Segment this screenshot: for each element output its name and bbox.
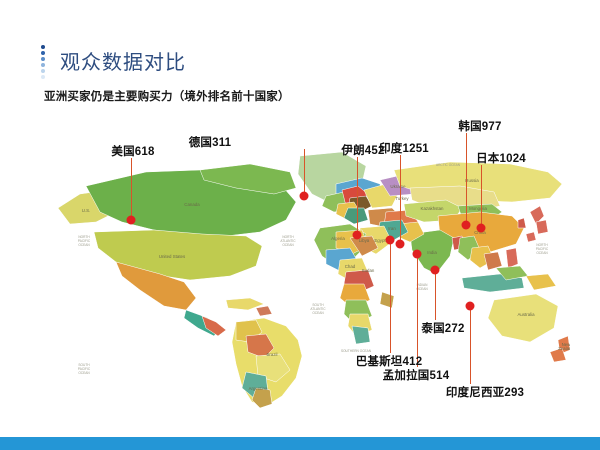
marker-dot-korea [462, 221, 471, 230]
marker-stem-pakistan [390, 240, 391, 353]
page-subtitle: 亚洲买家仍是主要购买力（境外排名前十国家） [44, 88, 290, 104]
svg-text:Mongolia: Mongolia [469, 206, 487, 211]
marker-dot-india [396, 240, 405, 249]
svg-text:United States: United States [159, 254, 186, 259]
slide-canvas: 观众数据对比 亚洲买家仍是主要购买力（境外排名前十国家） [0, 0, 600, 450]
marker-label-pakistan: 巴基斯坦412 [356, 353, 423, 369]
marker-dot-indonesia [466, 302, 475, 311]
svg-text:Chad: Chad [345, 264, 356, 269]
marker-stem-india [400, 155, 401, 244]
svg-text:OCEAN: OCEAN [312, 311, 324, 315]
marker-label-germany: 德国311 [189, 134, 232, 150]
marker-dot-pakistan [386, 236, 395, 245]
svg-text:Iran: Iran [388, 226, 396, 231]
svg-text:Brazil: Brazil [267, 352, 278, 357]
marker-stem-korea [466, 133, 467, 225]
marker-dot-thailand [431, 266, 440, 275]
svg-text:Ukraine: Ukraine [390, 184, 406, 189]
marker-stem-us [131, 158, 132, 220]
marker-stem-japan [481, 165, 482, 228]
marker-stem-germany [304, 149, 305, 196]
marker-dot-germany [300, 192, 309, 201]
marker-dot-iran [353, 231, 362, 240]
svg-text:Russia: Russia [465, 178, 479, 183]
svg-text:Sudan: Sudan [362, 268, 375, 273]
svg-text:Zealand: Zealand [558, 346, 570, 351]
decorative-dot-column [41, 45, 45, 79]
marker-stem-indonesia [470, 306, 471, 384]
marker-dot-japan [477, 224, 486, 233]
marker-label-bangladesh: 孟加拉国514 [383, 367, 450, 383]
svg-text:OCEAN: OCEAN [78, 371, 90, 375]
marker-stem-thailand [435, 270, 436, 320]
svg-text:Australia: Australia [517, 312, 535, 317]
marker-label-us: 美国618 [111, 143, 154, 159]
marker-dot-us [127, 216, 136, 225]
svg-text:Argentina: Argentina [249, 386, 268, 391]
svg-text:Libya: Libya [359, 238, 370, 243]
marker-stem-bangladesh [417, 254, 418, 367]
marker-label-japan: 日本1024 [476, 150, 526, 166]
page-title: 观众数据对比 [60, 46, 186, 75]
marker-stem-iran [357, 157, 358, 235]
svg-text:OCEAN: OCEAN [416, 287, 428, 291]
svg-text:Algeria: Algeria [331, 236, 345, 241]
marker-label-india: 印度1251 [379, 140, 429, 156]
svg-text:India: India [427, 250, 437, 255]
svg-text:OCEAN: OCEAN [282, 243, 294, 247]
marker-label-indonesia: 印度尼西亚293 [446, 384, 524, 400]
marker-label-korea: 韩国977 [458, 118, 501, 134]
world-map-svg: NORTHPACIFICOCEAN NORTHATLANTICOCEAN SOU… [50, 150, 570, 410]
marker-dot-bangladesh [413, 250, 422, 259]
svg-text:U.S.: U.S. [82, 208, 91, 213]
world-map: NORTHPACIFICOCEAN NORTHATLANTICOCEAN SOU… [50, 150, 570, 410]
svg-text:Canada: Canada [184, 202, 200, 207]
marker-label-thailand: 泰国272 [421, 320, 464, 336]
svg-text:OCEAN: OCEAN [536, 251, 548, 255]
svg-text:Kazakhstan: Kazakhstan [421, 206, 445, 211]
svg-text:Turkey: Turkey [395, 196, 409, 201]
footer-accent-bar [0, 437, 600, 450]
svg-text:OCEAN: OCEAN [78, 243, 90, 247]
svg-text:ARCTIC OCEAN: ARCTIC OCEAN [436, 163, 461, 167]
